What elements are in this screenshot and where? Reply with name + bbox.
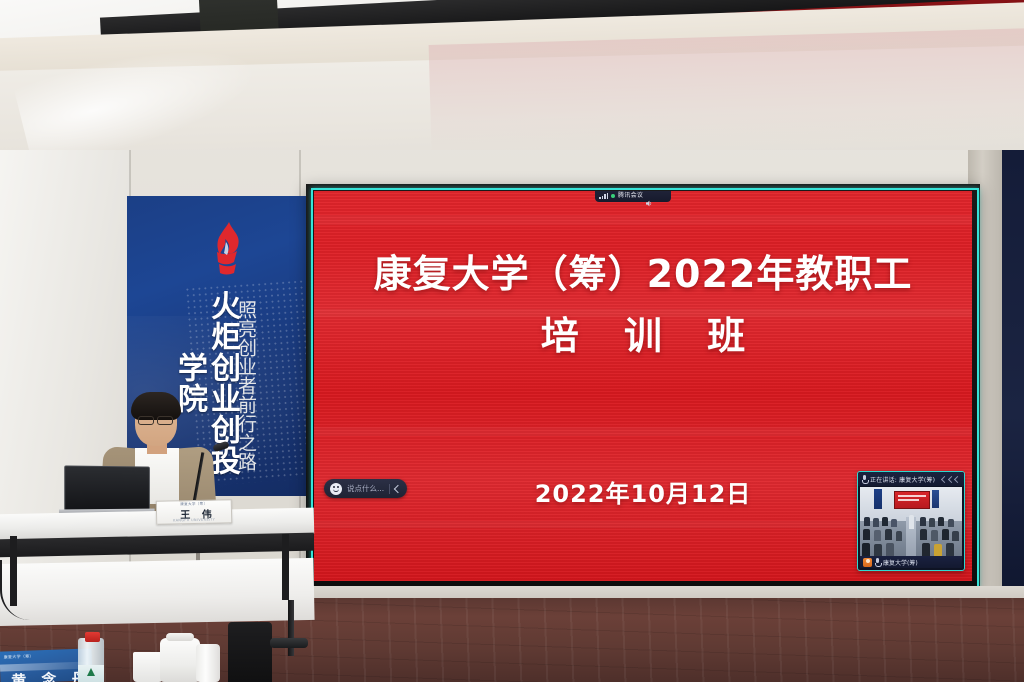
presenter-glasses-left [138, 416, 154, 425]
presenter-nameplate: 康复大学（筹） 王 伟 KANGFU UNIVERSITY [156, 499, 232, 525]
right-blue-wall [1002, 150, 1024, 590]
ceiling-pink-reflection [429, 27, 1024, 150]
active-speaker-label: 正在讲话: 康复大学(筹) [870, 475, 935, 484]
meeting-app-label: 腾讯会议 [618, 192, 643, 199]
presenter-glasses-right [157, 416, 173, 425]
meeting-status-pill[interactable]: 腾讯会议 [595, 191, 671, 202]
status-dot-icon [611, 194, 615, 198]
chat-divider [389, 484, 390, 494]
ceiling [0, 0, 1024, 150]
tripod-foot [270, 638, 308, 648]
signal-bars-icon [599, 192, 608, 199]
thermos-bottle-icon [196, 644, 220, 682]
slide-title-line1: 康复大学（筹）2022年教职工 [314, 243, 972, 305]
laptop-icon [64, 465, 152, 516]
speaker-icon [646, 192, 652, 199]
thermos-kettle-icon [160, 638, 200, 682]
screenshot-stage: 火炬创业创投学院 照亮创业者前行之路 腾讯会议 康复大学（筹）20 [0, 0, 1024, 682]
led-screen[interactable]: 腾讯会议 康复大学（筹）2022年教职工 培 训 班 2022年10月12日 说… [314, 191, 972, 581]
desk-leg-right [282, 534, 289, 600]
torch-flame-icon [203, 222, 247, 276]
video-feed [860, 487, 962, 557]
smiley-face-icon[interactable] [330, 483, 342, 495]
slide-title: 康复大学（筹）2022年教职工 培 训 班 [314, 243, 972, 367]
microphone-icon [875, 558, 880, 567]
slide-title-line2: 培 训 班 [314, 305, 972, 367]
chat-input-placeholder[interactable]: 说点什么... [347, 483, 384, 494]
video-panel-footer: 康复大学(筹) [860, 556, 962, 568]
banner-calligraphy: 照亮创业者前行之路 [227, 300, 257, 486]
participant-name: 康复大学(筹) [883, 558, 918, 567]
chevron-left-icon[interactable] [942, 477, 960, 482]
chair-back [228, 622, 272, 682]
kettle-lid [166, 633, 194, 641]
chevron-left-icon[interactable] [394, 484, 402, 492]
microphone-icon [862, 475, 867, 484]
presenter-desk-skirt [0, 558, 315, 626]
bottle-label [78, 665, 104, 682]
nameplate-subtitle: KANGFU UNIVERSITY [157, 517, 231, 523]
bottle-cap [85, 632, 100, 642]
user-avatar-icon [863, 558, 872, 567]
foreground-nameplate-org: 康复大学（筹） [4, 653, 34, 660]
video-thumbnail-panel[interactable]: 正在讲话: 康复大学(筹) [858, 472, 964, 570]
meeting-chat-bar[interactable]: 说点什么... [324, 479, 407, 498]
paper-cup-icon [133, 652, 163, 682]
video-panel-header: 正在讲话: 康复大学(筹) [858, 472, 964, 486]
